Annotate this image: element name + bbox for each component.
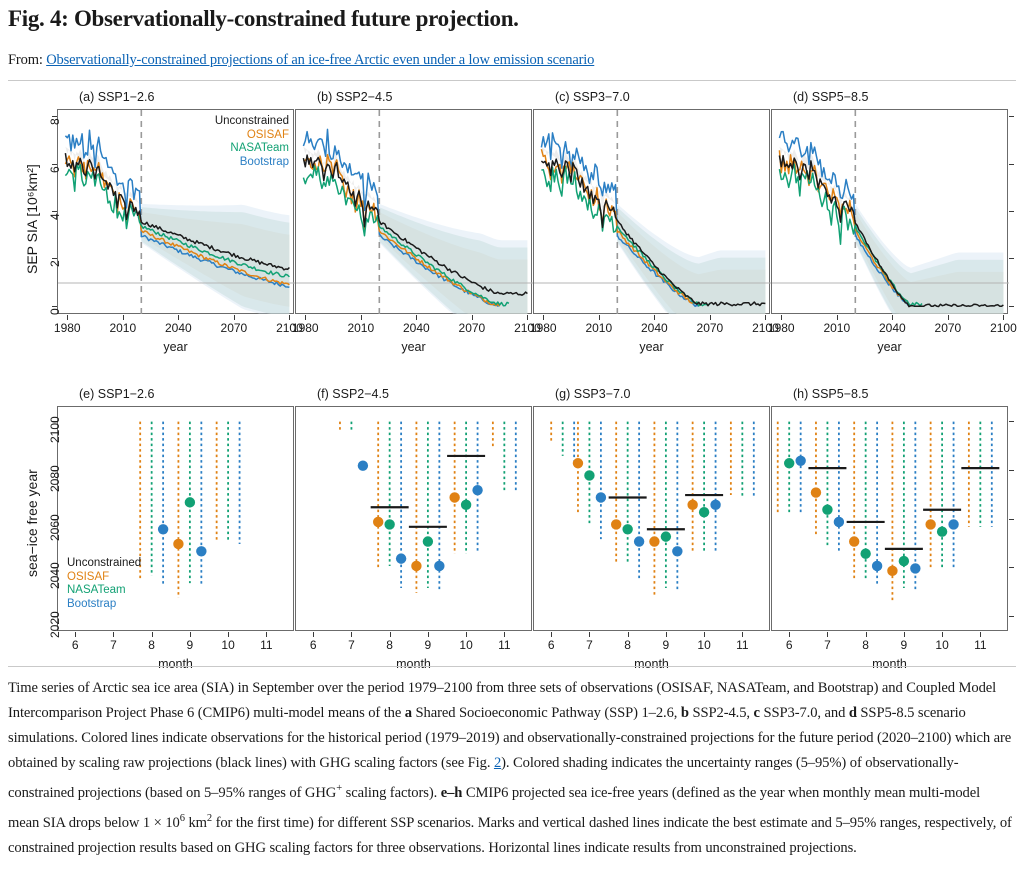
bxtick-h-5 bbox=[980, 632, 981, 637]
bxticklabel-f-2: 8 bbox=[378, 638, 402, 652]
bxaxis-label-e: month bbox=[57, 657, 294, 671]
bxticklabel-e-4: 10 bbox=[216, 638, 240, 652]
panel-plot-h bbox=[772, 407, 1009, 632]
byticklabel-left-4: 2100 bbox=[48, 416, 62, 443]
panel-title-b: (b) SSP2−4.5 bbox=[317, 90, 392, 104]
best-estimate-dot-bootstrap bbox=[710, 500, 720, 510]
bxtick-e-1 bbox=[113, 632, 114, 637]
best-estimate-dot-osisaf bbox=[411, 561, 421, 571]
caption-bold-eh: e–h bbox=[441, 785, 463, 801]
bxtick-f-1 bbox=[351, 632, 352, 637]
bxticklabel-e-2: 8 bbox=[140, 638, 164, 652]
divider-bottom bbox=[8, 666, 1016, 667]
xtick-d-0 bbox=[781, 315, 782, 320]
bxtick-f-5 bbox=[504, 632, 505, 637]
bxticklabel-h-0: 6 bbox=[777, 638, 801, 652]
xaxis-label-c: year bbox=[533, 340, 770, 354]
bxaxis-label-g: month bbox=[533, 657, 770, 671]
panel-title-f: (f) SSP2−4.5 bbox=[317, 387, 389, 401]
caption-bold-d: d bbox=[849, 705, 857, 721]
panel-title-d: (d) SSP5−8.5 bbox=[793, 90, 868, 104]
panel-plot-b bbox=[296, 110, 533, 315]
xticklabel-c-3: 2070 bbox=[694, 321, 726, 335]
bxticklabel-g-1: 7 bbox=[577, 638, 601, 652]
panel-plot-c bbox=[534, 110, 771, 315]
caption-part-7: scaling factors). bbox=[342, 785, 441, 801]
xticklabel-b-3: 2070 bbox=[456, 321, 488, 335]
caption-part-4: SSP3-7.0, and bbox=[760, 705, 849, 721]
legend-top: UnconstrainedOSISAFNASATeamBootstrap bbox=[185, 115, 289, 169]
best-estimate-dot-osisaf bbox=[811, 487, 821, 497]
bxtick-g-3 bbox=[666, 632, 667, 637]
from-label: From: bbox=[8, 52, 43, 68]
yticklabel-left-2: 4 bbox=[48, 213, 62, 220]
bxtick-e-2 bbox=[152, 632, 153, 637]
bxticklabel-h-2: 8 bbox=[854, 638, 878, 652]
yaxis-label-top: SEP SIA [10⁶km²] bbox=[24, 164, 40, 274]
ytick-left-2 bbox=[52, 211, 57, 212]
yticklabel-left-3: 6 bbox=[48, 166, 62, 173]
xtick-a-2 bbox=[178, 315, 179, 320]
bytick-right-0 bbox=[1009, 616, 1014, 617]
bxticklabel-h-5: 11 bbox=[968, 638, 992, 652]
byticklabel-left-3: 2080 bbox=[48, 465, 62, 492]
xticklabel-b-2: 2040 bbox=[400, 321, 432, 335]
divider-top bbox=[8, 80, 1016, 81]
best-estimate-dot-nasateam bbox=[423, 536, 433, 546]
xticklabel-c-0: 1980 bbox=[527, 321, 559, 335]
panel-title-a: (a) SSP1−2.6 bbox=[79, 90, 154, 104]
xaxis-label-b: year bbox=[295, 340, 532, 354]
bxtick-h-3 bbox=[904, 632, 905, 637]
bxtick-g-1 bbox=[589, 632, 590, 637]
bxtick-e-5 bbox=[266, 632, 267, 637]
xtick-d-4 bbox=[1003, 315, 1004, 320]
xtick-a-1 bbox=[123, 315, 124, 320]
xticklabel-c-1: 2010 bbox=[583, 321, 615, 335]
best-estimate-dot-bootstrap bbox=[948, 519, 958, 529]
xticklabel-d-4: 2100 bbox=[987, 321, 1019, 335]
legend-item-osisaf: OSISAF bbox=[185, 129, 289, 143]
panel-title-e: (e) SSP1−2.6 bbox=[79, 387, 154, 401]
bytick-right-1 bbox=[1009, 567, 1014, 568]
legend-item-bootstrap: Bootstrap bbox=[185, 156, 289, 170]
best-estimate-dot-bootstrap bbox=[872, 561, 882, 571]
xaxis-label-a: year bbox=[57, 340, 294, 354]
uncertainty-band bbox=[141, 204, 289, 314]
caption-part-2: Shared Socioeconomic Pathway (SSP) 1–2.6… bbox=[412, 705, 681, 721]
best-estimate-dot-osisaf bbox=[649, 536, 659, 546]
xtick-b-0 bbox=[305, 315, 306, 320]
bxticklabel-f-1: 7 bbox=[339, 638, 363, 652]
yaxis-label-bottom: sea−ice free year bbox=[24, 469, 40, 577]
legend-item-osisaf: OSISAF bbox=[67, 571, 177, 585]
source-article-link[interactable]: Observationally-constrained projections … bbox=[46, 52, 594, 68]
bxticklabel-f-5: 11 bbox=[492, 638, 516, 652]
best-estimate-dot-osisaf bbox=[611, 519, 621, 529]
uncertainty-band bbox=[855, 204, 1003, 314]
figure-caption: Time series of Arctic sea ice area (SIA)… bbox=[8, 676, 1014, 861]
bxtick-f-3 bbox=[428, 632, 429, 637]
xticklabel-a-3: 2070 bbox=[218, 321, 250, 335]
best-estimate-dot-nasateam bbox=[622, 524, 632, 534]
xtick-b-3 bbox=[472, 315, 473, 320]
ytick-left-0 bbox=[52, 306, 57, 307]
xticklabel-d-2: 2040 bbox=[876, 321, 908, 335]
xticklabel-a-1: 2010 bbox=[107, 321, 139, 335]
ytick-right-2 bbox=[1009, 211, 1014, 212]
bxticklabel-f-4: 10 bbox=[454, 638, 478, 652]
figure-plot-area: (a) SSP1−2.619802010204020702100year(b) … bbox=[0, 84, 1024, 664]
bxticklabel-f-0: 6 bbox=[301, 638, 325, 652]
bxtick-g-2 bbox=[628, 632, 629, 637]
caption-bold-b: b bbox=[681, 705, 689, 721]
best-estimate-dot-bootstrap bbox=[196, 546, 206, 556]
ytick-right-4 bbox=[1009, 116, 1014, 117]
legend-item-nasateam: NASATeam bbox=[67, 584, 177, 598]
best-estimate-dot-nasateam bbox=[461, 500, 471, 510]
figure-title: Fig. 4: Observationally-constrained futu… bbox=[8, 6, 1016, 32]
bxticklabel-g-3: 9 bbox=[654, 638, 678, 652]
xtick-b-1 bbox=[361, 315, 362, 320]
best-estimate-dot-bootstrap bbox=[634, 536, 644, 546]
best-estimate-dot-nasateam bbox=[699, 507, 709, 517]
bytick-right-2 bbox=[1009, 519, 1014, 520]
yticklabel-left-1: 2 bbox=[48, 261, 62, 268]
bytick-right-4 bbox=[1009, 421, 1014, 422]
legend-item-unconstrained: Unconstrained bbox=[67, 557, 177, 571]
best-estimate-dot-nasateam bbox=[661, 531, 671, 541]
best-estimate-dot-osisaf bbox=[887, 566, 897, 576]
panel-plot-f bbox=[296, 407, 533, 632]
xticklabel-a-2: 2040 bbox=[162, 321, 194, 335]
bxtick-e-3 bbox=[190, 632, 191, 637]
bxtick-e-4 bbox=[228, 632, 229, 637]
best-estimate-dot-nasateam bbox=[384, 519, 394, 529]
bxticklabel-f-3: 9 bbox=[416, 638, 440, 652]
xticklabel-a-0: 1980 bbox=[51, 321, 83, 335]
panel-title-g: (g) SSP3−7.0 bbox=[555, 387, 630, 401]
yticklabel-left-0: 0 bbox=[48, 308, 62, 315]
best-estimate-dot-osisaf bbox=[573, 458, 583, 468]
ytick-right-0 bbox=[1009, 306, 1014, 307]
bxtick-f-4 bbox=[466, 632, 467, 637]
best-estimate-dot-bootstrap bbox=[596, 492, 606, 502]
bxtick-h-1 bbox=[827, 632, 828, 637]
bytick-right-3 bbox=[1009, 470, 1014, 471]
legend-item-unconstrained: Unconstrained bbox=[185, 115, 289, 129]
best-estimate-dot-bootstrap bbox=[834, 517, 844, 527]
xtick-d-3 bbox=[948, 315, 949, 320]
best-estimate-dot-osisaf bbox=[173, 539, 183, 549]
bxtick-h-4 bbox=[942, 632, 943, 637]
legend-item-bootstrap: Bootstrap bbox=[67, 598, 177, 612]
bxticklabel-h-3: 9 bbox=[892, 638, 916, 652]
bxticklabel-e-3: 9 bbox=[178, 638, 202, 652]
best-estimate-dot-nasateam bbox=[784, 458, 794, 468]
ytick-right-1 bbox=[1009, 258, 1014, 259]
panel-plot-d bbox=[772, 110, 1009, 315]
panel-plot-g bbox=[534, 407, 771, 632]
bxticklabel-g-0: 6 bbox=[539, 638, 563, 652]
bxtick-h-0 bbox=[789, 632, 790, 637]
xticklabel-d-0: 1980 bbox=[765, 321, 797, 335]
caption-part-9: km bbox=[185, 815, 207, 831]
best-estimate-dot-nasateam bbox=[899, 556, 909, 566]
legend-item-nasateam: NASATeam bbox=[185, 142, 289, 156]
best-estimate-dot-osisaf bbox=[925, 519, 935, 529]
byticklabel-left-0: 2020 bbox=[48, 612, 62, 639]
byticklabel-left-2: 2060 bbox=[48, 514, 62, 541]
xtick-a-4 bbox=[289, 315, 290, 320]
panel-title-c: (c) SSP3−7.0 bbox=[555, 90, 630, 104]
bxtick-h-2 bbox=[866, 632, 867, 637]
bxtick-g-0 bbox=[551, 632, 552, 637]
xtick-c-3 bbox=[710, 315, 711, 320]
xticklabel-c-2: 2040 bbox=[638, 321, 670, 335]
best-estimate-dot-nasateam bbox=[822, 505, 832, 515]
xtick-a-0 bbox=[67, 315, 68, 320]
panel-title-h: (h) SSP5−8.5 bbox=[793, 387, 868, 401]
ytick-left-4 bbox=[52, 116, 57, 117]
uncertainty-band bbox=[379, 204, 527, 314]
best-estimate-dot-bootstrap bbox=[910, 563, 920, 573]
caption-bold-a: a bbox=[405, 705, 412, 721]
best-estimate-dot-bootstrap bbox=[472, 485, 482, 495]
best-estimate-dot-bootstrap bbox=[358, 460, 368, 470]
xtick-b-4 bbox=[527, 315, 528, 320]
xtick-a-3 bbox=[234, 315, 235, 320]
bxtick-e-0 bbox=[75, 632, 76, 637]
bxtick-g-5 bbox=[742, 632, 743, 637]
best-estimate-dot-nasateam bbox=[937, 527, 947, 537]
figure-source: From: Observationally-constrained projec… bbox=[8, 52, 1016, 69]
best-estimate-dot-osisaf bbox=[373, 517, 383, 527]
bxticklabel-g-2: 8 bbox=[616, 638, 640, 652]
ytick-right-3 bbox=[1009, 164, 1014, 165]
bxticklabel-e-1: 7 bbox=[101, 638, 125, 652]
best-estimate-dot-bootstrap bbox=[396, 553, 406, 563]
bxtick-g-4 bbox=[704, 632, 705, 637]
bxaxis-label-h: month bbox=[771, 657, 1008, 671]
bxticklabel-e-0: 6 bbox=[63, 638, 87, 652]
xtick-c-0 bbox=[543, 315, 544, 320]
uncertainty-band bbox=[617, 204, 765, 314]
xtick-d-1 bbox=[837, 315, 838, 320]
best-estimate-dot-bootstrap bbox=[672, 546, 682, 556]
best-estimate-dot-bootstrap bbox=[795, 456, 805, 466]
caption-part-3: SSP2-4.5, bbox=[689, 705, 754, 721]
xtick-c-2 bbox=[654, 315, 655, 320]
xticklabel-b-1: 2010 bbox=[345, 321, 377, 335]
xtick-d-2 bbox=[892, 315, 893, 320]
yticklabel-left-4: 8 bbox=[48, 118, 62, 125]
best-estimate-dot-osisaf bbox=[449, 492, 459, 502]
legend-bottom: UnconstrainedOSISAFNASATeamBootstrap bbox=[67, 557, 177, 611]
xticklabel-d-1: 2010 bbox=[821, 321, 853, 335]
xtick-b-2 bbox=[416, 315, 417, 320]
bxticklabel-g-5: 11 bbox=[730, 638, 754, 652]
bxtick-f-2 bbox=[390, 632, 391, 637]
xtick-c-1 bbox=[599, 315, 600, 320]
best-estimate-dot-nasateam bbox=[584, 470, 594, 480]
bxticklabel-g-4: 10 bbox=[692, 638, 716, 652]
best-estimate-dot-osisaf bbox=[687, 500, 697, 510]
byticklabel-left-1: 2040 bbox=[48, 563, 62, 590]
best-estimate-dot-nasateam bbox=[185, 497, 195, 507]
bxticklabel-h-1: 7 bbox=[815, 638, 839, 652]
xaxis-label-d: year bbox=[771, 340, 1008, 354]
bxticklabel-e-5: 11 bbox=[254, 638, 278, 652]
best-estimate-dot-osisaf bbox=[849, 536, 859, 546]
best-estimate-dot-bootstrap bbox=[158, 524, 168, 534]
xticklabel-d-3: 2070 bbox=[932, 321, 964, 335]
best-estimate-dot-bootstrap bbox=[434, 561, 444, 571]
xtick-c-4 bbox=[765, 315, 766, 320]
best-estimate-dot-nasateam bbox=[860, 549, 870, 559]
bxtick-f-0 bbox=[313, 632, 314, 637]
xticklabel-b-0: 1980 bbox=[289, 321, 321, 335]
bxticklabel-h-4: 10 bbox=[930, 638, 954, 652]
bxaxis-label-f: month bbox=[295, 657, 532, 671]
ytick-left-3 bbox=[52, 164, 57, 165]
